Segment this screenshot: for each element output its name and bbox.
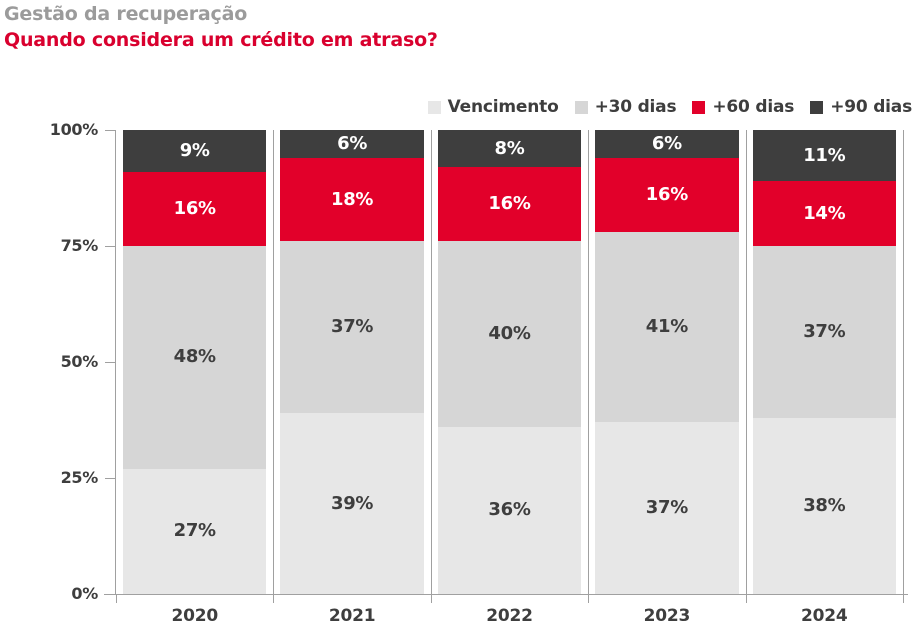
bar-segment-label: 16% bbox=[488, 195, 530, 213]
x-axis-label-2021: 2021 bbox=[273, 606, 430, 626]
x-tick-mark bbox=[431, 594, 432, 603]
group-divider bbox=[431, 130, 432, 594]
bar-segment[interactable]: 8% bbox=[438, 130, 581, 167]
y-tick-mark bbox=[105, 362, 116, 363]
x-axis-label-2023: 2023 bbox=[588, 606, 745, 626]
bar-segment[interactable]: 40% bbox=[438, 241, 581, 427]
bar-segment[interactable]: 39% bbox=[280, 413, 423, 594]
bar-segment-label: 14% bbox=[803, 205, 845, 223]
y-tick-label: 50% bbox=[36, 352, 98, 371]
bar-segment[interactable]: 38% bbox=[753, 418, 896, 594]
plot-right-border bbox=[903, 130, 904, 594]
bar-segment-label: 37% bbox=[331, 318, 373, 336]
bar-group-2022: 36%40%16%8% bbox=[438, 130, 581, 594]
y-tick-mark bbox=[105, 130, 116, 131]
x-tick-mark bbox=[116, 594, 117, 603]
bar-segment[interactable]: 14% bbox=[753, 181, 896, 246]
bar-segment-label: 39% bbox=[331, 495, 373, 513]
plot-area: 27%48%16%9%39%37%18%6%36%40%16%8%37%41%1… bbox=[116, 130, 903, 594]
stacked-bar-chart: 0%25%50%75%100% 27%48%16%9%39%37%18%6%36… bbox=[0, 0, 920, 634]
x-axis-label-2024: 2024 bbox=[746, 606, 903, 626]
bar-segment[interactable]: 48% bbox=[123, 246, 266, 469]
bar-segment[interactable]: 6% bbox=[280, 130, 423, 158]
y-tick-label: 25% bbox=[36, 468, 98, 487]
bar-segment-label: 27% bbox=[174, 522, 216, 540]
bar-segment-label: 38% bbox=[803, 497, 845, 515]
x-axis-label-2020: 2020 bbox=[116, 606, 273, 626]
x-tick-mark bbox=[588, 594, 589, 603]
bar-segment[interactable]: 16% bbox=[438, 167, 581, 241]
y-tick-mark bbox=[105, 246, 116, 247]
bar-segment-label: 37% bbox=[646, 499, 688, 517]
x-tick-mark bbox=[903, 594, 904, 603]
bar-group-2021: 39%37%18%6% bbox=[280, 130, 423, 594]
bar-segment-label: 8% bbox=[495, 140, 525, 158]
group-divider bbox=[588, 130, 589, 594]
bar-group-2023: 37%41%16%6% bbox=[595, 130, 738, 594]
bar-group-2020: 27%48%16%9% bbox=[123, 130, 266, 594]
bar-segment-label: 48% bbox=[174, 348, 216, 366]
bar-segment[interactable]: 37% bbox=[280, 241, 423, 413]
bar-segment[interactable]: 11% bbox=[753, 130, 896, 181]
x-tick-mark bbox=[273, 594, 274, 603]
bar-segment[interactable]: 9% bbox=[123, 130, 266, 172]
bar-segment-label: 16% bbox=[174, 200, 216, 218]
bar-segment[interactable]: 37% bbox=[753, 246, 896, 418]
x-tick-mark bbox=[746, 594, 747, 603]
bar-segment[interactable]: 16% bbox=[123, 172, 266, 246]
x-axis-label-2022: 2022 bbox=[431, 606, 588, 626]
x-axis-line bbox=[104, 594, 908, 595]
group-divider bbox=[746, 130, 747, 594]
bar-segment[interactable]: 37% bbox=[595, 422, 738, 594]
y-tick-label: 75% bbox=[36, 236, 98, 255]
bar-segment-label: 9% bbox=[180, 142, 210, 160]
bar-segment-label: 6% bbox=[652, 135, 682, 153]
bar-segment[interactable]: 36% bbox=[438, 427, 581, 594]
bar-segment-label: 41% bbox=[646, 318, 688, 336]
y-tick-mark bbox=[105, 478, 116, 479]
bar-segment[interactable]: 41% bbox=[595, 232, 738, 422]
bar-segment-label: 11% bbox=[803, 147, 845, 165]
bar-segment-label: 16% bbox=[646, 186, 688, 204]
bar-segment-label: 37% bbox=[803, 323, 845, 341]
bar-segment[interactable]: 16% bbox=[595, 158, 738, 232]
y-tick-label: 100% bbox=[36, 120, 98, 139]
bar-segment-label: 6% bbox=[337, 135, 367, 153]
bar-segment[interactable]: 27% bbox=[123, 469, 266, 594]
bar-segment-label: 18% bbox=[331, 191, 373, 209]
bar-segment[interactable]: 18% bbox=[280, 158, 423, 242]
bar-segment[interactable]: 6% bbox=[595, 130, 738, 158]
bar-segment-label: 36% bbox=[488, 501, 530, 519]
y-tick-label: 0% bbox=[36, 584, 98, 603]
group-divider bbox=[273, 130, 274, 594]
bar-group-2024: 38%37%14%11% bbox=[753, 130, 896, 594]
bar-segment-label: 40% bbox=[488, 325, 530, 343]
y-tick-mark bbox=[105, 594, 116, 595]
